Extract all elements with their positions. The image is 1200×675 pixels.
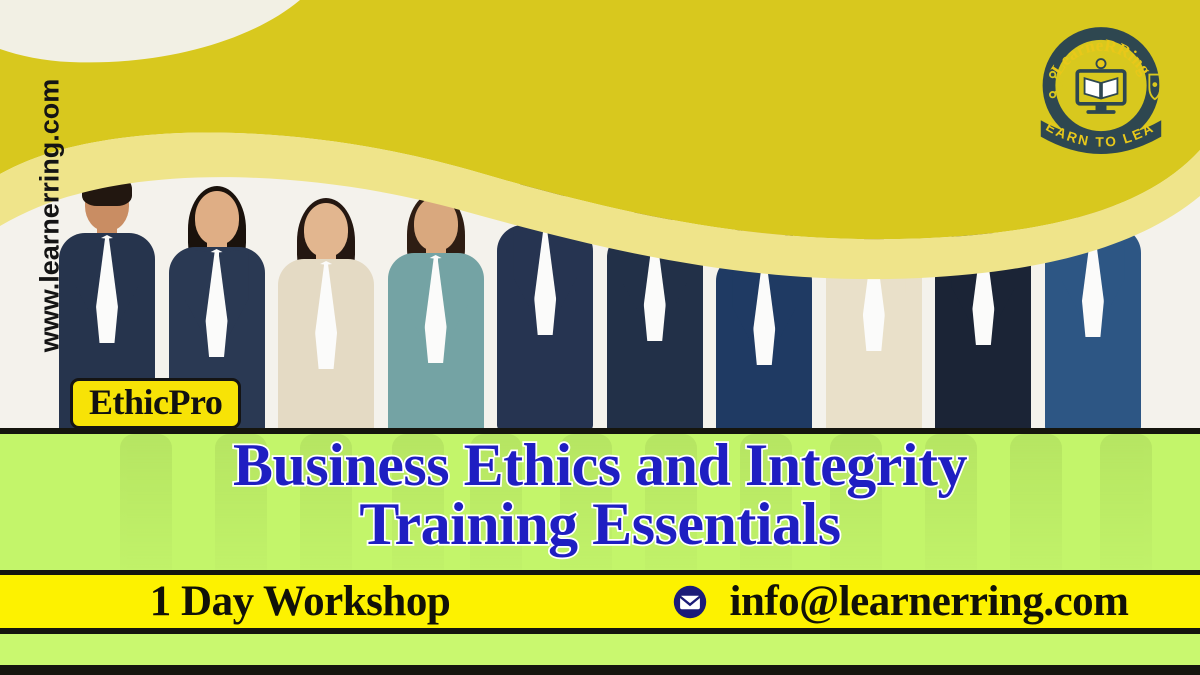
head: [304, 203, 348, 257]
hair: [630, 170, 680, 204]
email-group[interactable]: info@learnerring.com: [600, 580, 1200, 623]
head: [414, 197, 458, 251]
hair: [1068, 166, 1118, 200]
learnerring-logo[interactable]: LearneRRing: [1028, 18, 1174, 164]
contact-email[interactable]: info@learnerring.com: [730, 580, 1129, 623]
promotional-banner: www.learnerring.com LearneRRing: [0, 0, 1200, 675]
sun-icon: [1096, 59, 1105, 68]
bottom-green-strip: [0, 633, 1200, 666]
open-book-right-page-icon: [1102, 78, 1118, 98]
hair: [958, 174, 1008, 208]
monitor-stand-icon: [1096, 104, 1107, 111]
website-url-vertical[interactable]: www.learnerring.com: [35, 56, 66, 376]
person-figure: [712, 199, 816, 431]
contact-bar: 1 Day Workshop info@learnerring.com: [0, 575, 1200, 628]
person-figure: [493, 169, 597, 431]
person-figure: [931, 179, 1035, 431]
person-figure: [274, 203, 378, 431]
person-figure: [1041, 171, 1145, 431]
person-figure: [384, 197, 488, 431]
head: [742, 199, 786, 253]
divider-below-contact-bar: [0, 628, 1200, 634]
bottom-black-bar: [0, 665, 1200, 675]
open-book-icon: [1085, 78, 1101, 98]
team-photo: [0, 0, 1200, 431]
head: [852, 185, 896, 239]
hero-section: www.learnerring.com LearneRRing: [0, 0, 1200, 431]
head: [195, 191, 239, 245]
envelope-icon[interactable]: [672, 584, 708, 620]
person-figure: [603, 175, 707, 431]
hair: [82, 172, 132, 206]
monitor-base-icon: [1086, 110, 1115, 114]
workshop-duration-label: 1 Day Workshop: [0, 580, 600, 623]
hair: [520, 164, 570, 198]
title-band: Business Ethics and Integrity Training E…: [0, 434, 1200, 570]
title-line-1: Business Ethics and Integrity: [0, 436, 1200, 495]
page-title: Business Ethics and Integrity Training E…: [0, 436, 1200, 554]
divider-above-contact-bar: [0, 570, 1200, 575]
title-line-2: Training Essentials: [0, 495, 1200, 554]
bottom-ghost-silhouettes: [0, 633, 1200, 666]
person-figure: [822, 185, 926, 431]
ethicpro-badge: EthicPro: [70, 378, 241, 429]
